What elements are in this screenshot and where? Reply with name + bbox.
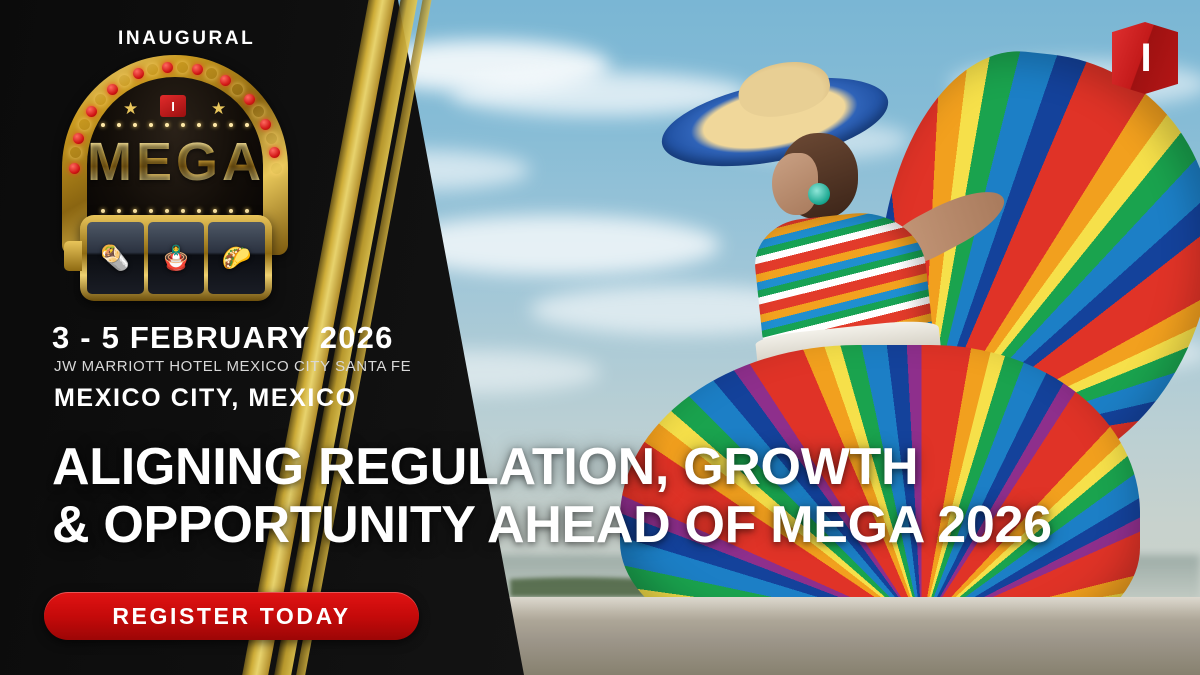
slot-reel: 🪆 (148, 222, 205, 294)
earring (808, 183, 830, 205)
dancer-face (772, 153, 818, 215)
brand-logo-icon[interactable]: I (1112, 22, 1178, 94)
marquee-bulb (177, 62, 188, 73)
event-dates: 3 - 5 FEBRUARY 2026 (52, 320, 394, 356)
marquee-bulb (147, 64, 158, 75)
event-promo-banner: INAUGURAL ★ ★ I MEGA MEXICO GAMING 🌯 (0, 0, 1200, 675)
event-city: MEXICO CITY, MEXICO (54, 384, 357, 413)
event-venue: JW MARRIOTT HOTEL MEXICO CITY SANTA FE (54, 358, 411, 375)
marquee-bulb (269, 147, 280, 158)
marquee-bulb (271, 163, 282, 174)
bulb-dot-row (101, 123, 249, 128)
marquee-bulb (119, 75, 130, 86)
marquee-bulb (79, 119, 90, 130)
marquee-bulb (220, 75, 231, 86)
marquee-bulb (95, 94, 106, 105)
folklorico-dancer (630, 55, 1190, 675)
marquee-bulb (244, 94, 255, 105)
bulb-dot-row (101, 209, 249, 214)
slot-reel: 🌯 (87, 222, 144, 294)
logo-wordmark: MEGA (87, 135, 263, 189)
marquee-bulb (253, 106, 264, 117)
marquee-bulb (107, 84, 118, 95)
headline-line-2: & OPPORTUNITY AHEAD OF MEGA 2026 (52, 496, 1192, 554)
star-icon: ★ (211, 99, 226, 119)
slot-machine-reels: 🌯 🪆 🌮 (80, 215, 272, 301)
marquee-bulb (232, 84, 243, 95)
marquee-bulb (206, 68, 217, 79)
page-title: ALIGNING REGULATION, GROWTH & OPPORTUNIT… (52, 438, 1192, 554)
star-icon: ★ (123, 99, 138, 119)
marquee-bulb (70, 147, 81, 158)
headline-line-1: ALIGNING REGULATION, GROWTH (52, 438, 1192, 496)
marquee-bulb (133, 68, 144, 79)
brand-badge-icon: I (160, 95, 186, 117)
marquee-bulb (266, 133, 277, 144)
slot-symbol-icon: 🌮 (222, 244, 252, 273)
marquee-bulb (192, 64, 203, 75)
marquee-bulb (73, 133, 84, 144)
cube-letter: I (1140, 38, 1149, 78)
slot-reel: 🌮 (208, 222, 265, 294)
brand-badge-letter: I (171, 100, 175, 113)
marquee-bulb (86, 106, 97, 117)
slot-symbol-icon: 🪆 (161, 244, 191, 273)
marquee-bulb (260, 119, 271, 130)
slot-lever-icon (64, 241, 82, 271)
marquee-bulb (69, 163, 80, 174)
slot-symbol-icon: 🌯 (100, 244, 130, 273)
marquee-bulb (162, 62, 173, 73)
eyebrow-label: INAUGURAL (118, 28, 255, 50)
register-today-button[interactable]: REGISTER TODAY (44, 592, 419, 640)
mega-event-logo: ★ ★ I MEGA MEXICO GAMING 🌯 🪆 🌮 (40, 55, 310, 295)
